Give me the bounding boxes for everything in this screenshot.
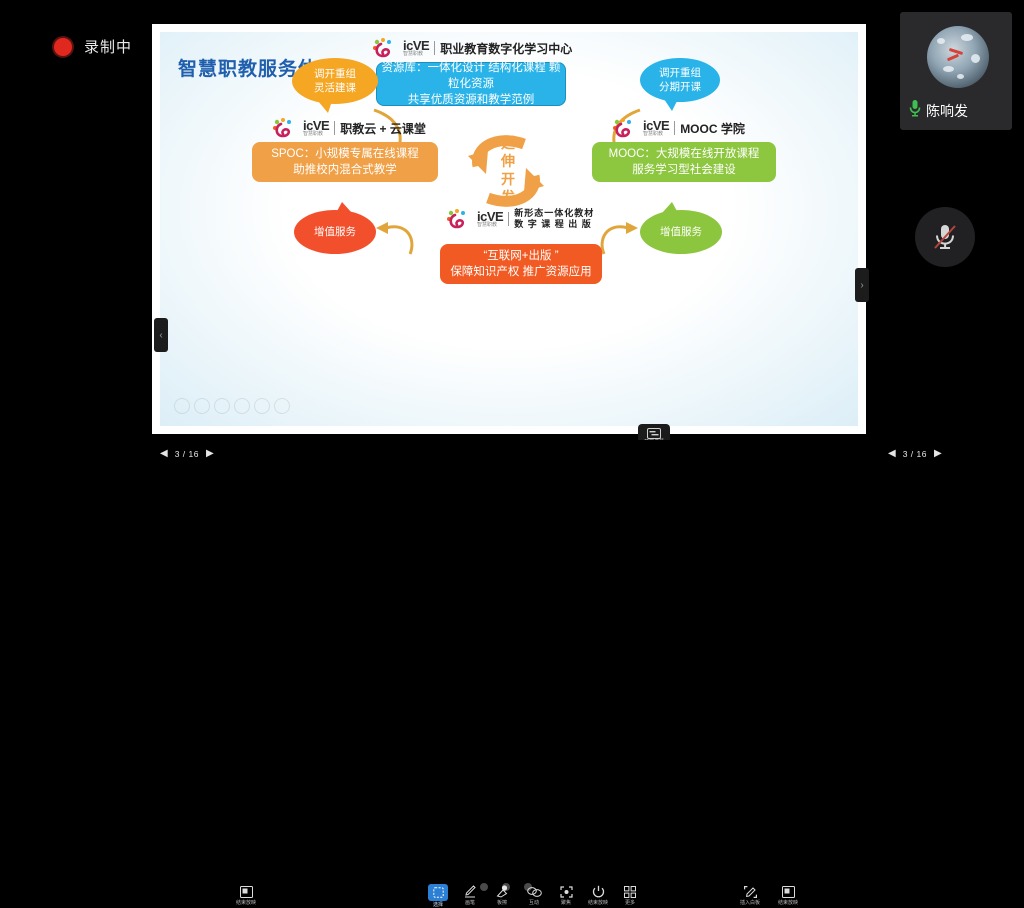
logo-divider [434, 41, 435, 55]
slide-page-indicator-left: 3 / 16 [175, 449, 199, 459]
end-slideshow-button-left[interactable]: 结束放映 [232, 884, 260, 906]
slideshow-icon [240, 884, 253, 899]
end-slideshow-label-right: 结束放映 [778, 900, 798, 906]
whiteboard-icon [744, 884, 757, 899]
bubble-bottom-left: 增值服务 [294, 210, 376, 254]
insert-whiteboard-button[interactable]: 插入白板 [736, 884, 764, 906]
tool-eraser[interactable]: 板擦 [488, 884, 516, 908]
tool-pen-label: 画笔 [465, 900, 475, 906]
bottom-logo-brand: icVE智慧职教 [477, 210, 503, 228]
center-logo-brand: icVE智慧职教 [403, 39, 429, 57]
ppt-zoom-out-icon[interactable] [274, 398, 290, 414]
slideshow-icon [782, 884, 795, 899]
bottom-content-box: “互联网+出版 ” 保障知识产权 推广资源应用 [440, 244, 602, 284]
focus-icon [560, 884, 573, 899]
icve-leaf-icon [272, 117, 298, 139]
slide-canvas: 智慧职教服务体系 [160, 32, 858, 426]
right-line-2: 服务学习型社会建设 [632, 162, 736, 178]
end-slideshow-label-left: 结束放映 [236, 900, 256, 906]
participant-footer: 陈响发 [908, 99, 968, 122]
microphone-icon [908, 99, 922, 122]
insert-whiteboard-label: 插入白板 [740, 900, 760, 906]
meeting-screen: 录制中 智慧职教服务体系 [0, 0, 1024, 472]
bottom-logo-label-2: 数 字 课 程 出 版 [514, 219, 592, 229]
ppt-home-icon[interactable] [234, 398, 250, 414]
tool-eraser-label: 板擦 [497, 900, 507, 906]
recording-indicator: 录制中 [54, 36, 132, 57]
ppt-viewer-controls[interactable] [174, 398, 290, 414]
end-slideshow-button-right[interactable]: 结束放映 [774, 884, 802, 906]
bottom-line-1: “互联网+出版 ” [483, 248, 558, 264]
right-logo-label: MOOC 学院 [680, 120, 745, 137]
bubble-bottom-right-line-1: 增值服务 [660, 225, 702, 239]
tool-end-slideshow-label: 结束放映 [588, 900, 608, 906]
grid-icon [624, 884, 636, 899]
tool-interaction[interactable]: 互动 [520, 884, 548, 908]
right-logo-brand: icVE智慧职教 [643, 119, 669, 137]
microphone-muted-icon [930, 221, 960, 253]
center-logo-label: 职业教育数字化学习中心 [440, 40, 572, 57]
left-line-2: 助推校内混合式教学 [293, 162, 397, 178]
right-panel-handle[interactable]: › [855, 268, 869, 302]
center-line-2: 粒化资源 [448, 76, 494, 92]
bottom-toolbar: ◀ 3 / 16 ▶ 结束放映 选择 [0, 440, 1024, 472]
recording-dot-icon [54, 38, 72, 56]
center-line-1: 资源库：一体化设计 结构化课程 颗 [382, 60, 561, 76]
icve-leaf-icon [612, 117, 638, 139]
power-icon [592, 884, 605, 899]
tool-more[interactable]: 更多 [616, 884, 644, 908]
right-tools: 插入白板 结束放映 [736, 884, 802, 906]
bubble-top-right-line-2: 分期开课 [659, 80, 701, 94]
center-logo: icVE智慧职教 职业教育数字化学习中心 [372, 37, 572, 59]
logo-divider [674, 121, 675, 135]
bubble-top-right: 调开重组 分期开课 [640, 58, 720, 102]
participant-name: 陈响发 [926, 101, 968, 121]
tool-more-label: 更多 [625, 900, 635, 906]
ppt-zoom-in-icon[interactable] [254, 398, 270, 414]
right-logo: icVE智慧职教 MOOC 学院 [612, 117, 745, 139]
tool-select[interactable]: 选择 [424, 884, 452, 908]
eraser-icon [496, 884, 509, 899]
right-line-1: MOOC：大规模在线开放课程 [609, 146, 760, 162]
bubble-top-left-line-1: 调开重组 [314, 67, 356, 81]
ppt-prev-icon[interactable] [174, 398, 190, 414]
cycle-label: 延伸开发 [500, 134, 516, 206]
annotation-tools: 选择 画笔 板擦 互动 [424, 884, 644, 908]
center-line-3: 共享优质资源和教学范例 [408, 92, 535, 108]
shared-slide-stage[interactable]: 智慧职教服务体系 [152, 24, 866, 434]
avatar [927, 26, 989, 88]
interaction-icon [527, 884, 542, 899]
tool-focus[interactable]: 聚焦 [552, 884, 580, 908]
danmaku-icon [647, 428, 661, 439]
pen-icon [464, 884, 476, 899]
mute-button[interactable] [915, 207, 975, 267]
participant-tile[interactable]: 陈响发 [900, 12, 1012, 130]
left-logo: icVE智慧职教 职教云 + 云课堂 [272, 117, 426, 139]
bubble-bottom-left-line-1: 增值服务 [314, 225, 356, 239]
bubble-bottom-right: 增值服务 [640, 210, 722, 254]
recording-label: 录制中 [84, 36, 132, 57]
ppt-play-icon[interactable] [194, 398, 210, 414]
tool-select-label: 选择 [433, 902, 443, 908]
ppt-pen-icon[interactable] [214, 398, 230, 414]
left-line-1: SPOC：小规模专属在线课程 [271, 146, 419, 162]
left-panel-handle[interactable]: ‹ [154, 318, 168, 352]
next-slide-button[interactable]: ▶ [206, 448, 214, 459]
left-logo-brand: icVE智慧职教 [303, 119, 329, 137]
tool-focus-label: 聚焦 [561, 900, 571, 906]
icve-leaf-icon [372, 37, 398, 59]
center-content-box: 资源库：一体化设计 结构化课程 颗 粒化资源 共享优质资源和教学范例 [376, 62, 566, 106]
bubble-top-left-line-2: 灵活建课 [314, 81, 356, 95]
bubble-top-right-line-1: 调开重组 [659, 66, 701, 80]
next-slide-button-right[interactable]: ▶ [934, 448, 942, 459]
tool-pen[interactable]: 画笔 [456, 884, 484, 908]
cycle-arrows: 延伸开发 [466, 130, 546, 212]
logo-divider [334, 121, 335, 135]
bottom-line-2: 保障知识产权 推广资源应用 [450, 264, 591, 280]
right-content-box: MOOC：大规模在线开放课程 服务学习型社会建设 [592, 142, 776, 182]
prev-slide-button-right[interactable]: ◀ [888, 448, 896, 459]
bubble-top-left: 调开重组 灵活建课 [292, 58, 378, 104]
left-content-box: SPOC：小规模专属在线课程 助推校内混合式教学 [252, 142, 438, 182]
prev-slide-button[interactable]: ◀ [160, 448, 168, 459]
tool-end-slideshow[interactable]: 结束放映 [584, 884, 612, 908]
slide-nav-left[interactable]: ◀ 3 / 16 ▶ [160, 448, 214, 459]
tool-interaction-label: 互动 [529, 900, 539, 906]
slide-nav-right[interactable]: ◀ 3 / 16 ▶ [888, 448, 942, 459]
select-icon [428, 884, 448, 901]
left-logo-label: 职教云 + 云课堂 [340, 120, 426, 137]
logo-divider [508, 212, 509, 226]
slide-page-indicator-right: 3 / 16 [903, 449, 927, 459]
